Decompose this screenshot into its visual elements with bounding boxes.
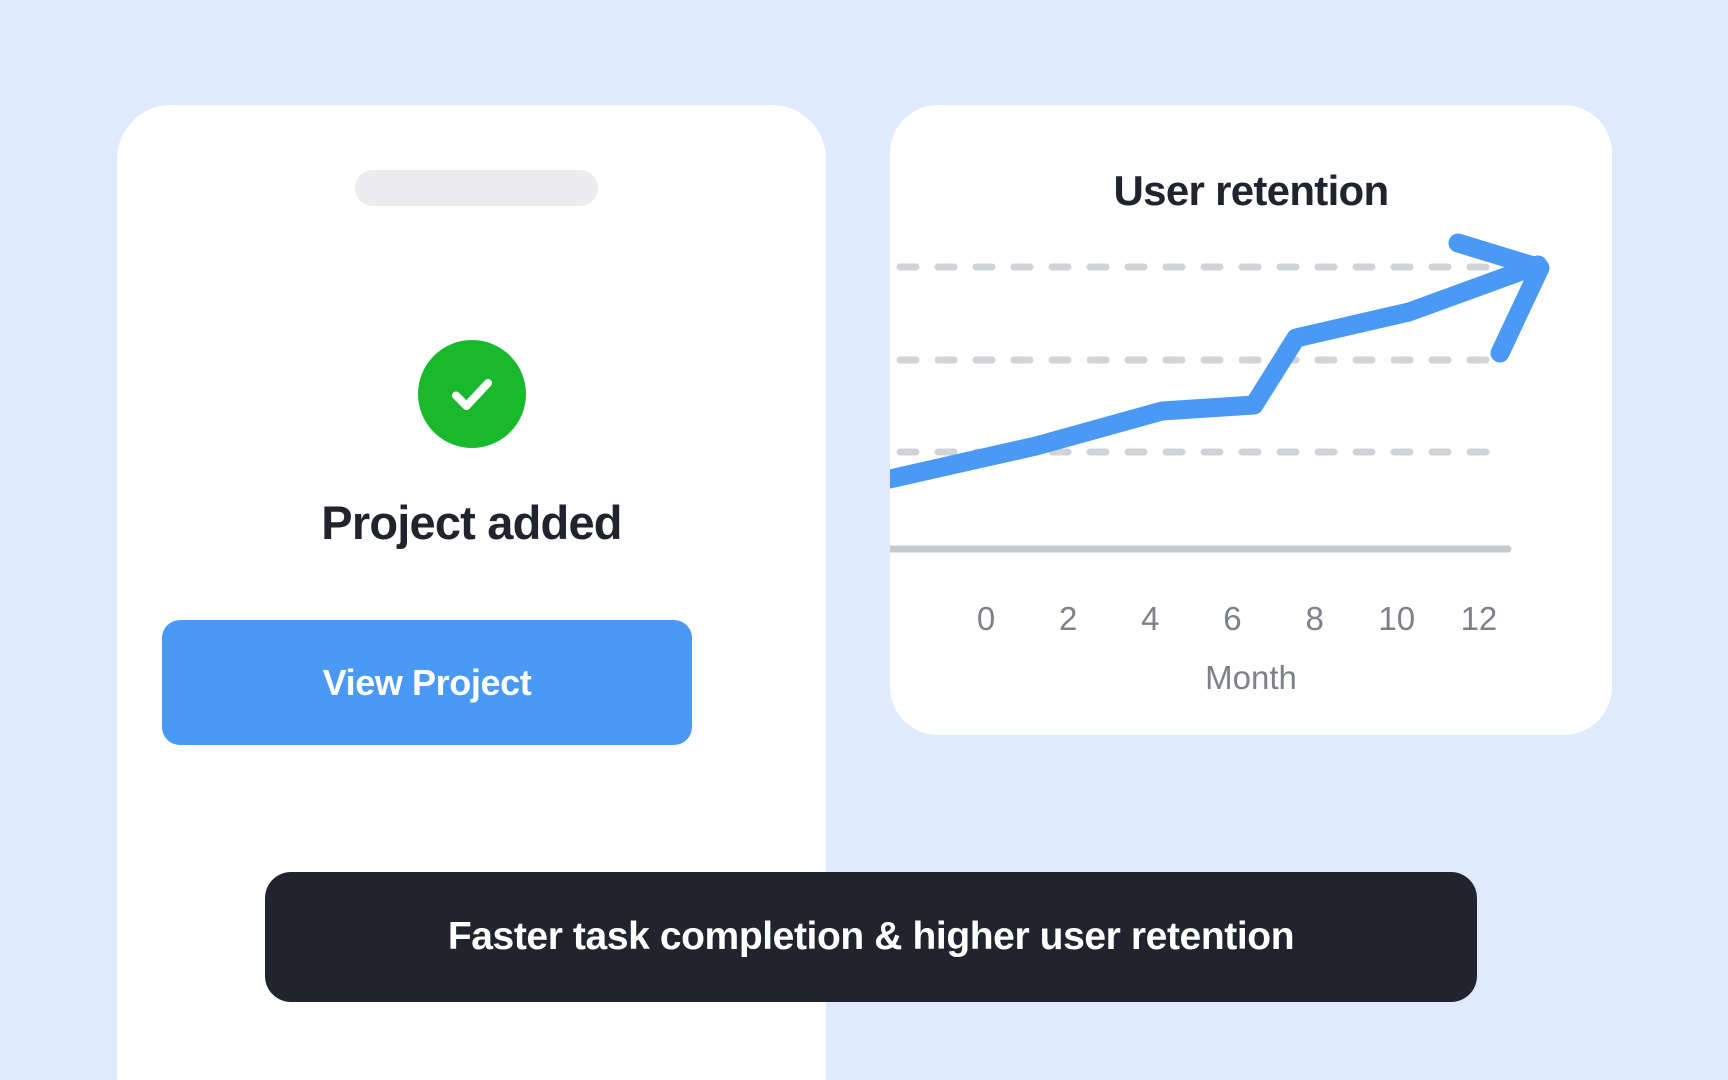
x-tick-12: 12 <box>1453 600 1505 638</box>
chart-x-axis-label: Month <box>890 659 1612 697</box>
user-retention-chart-card: User retention 0 2 4 6 8 10 12 <box>890 105 1612 735</box>
benefit-toast-banner: Faster task completion & higher user ret… <box>265 872 1477 1002</box>
phone-notch-pill <box>355 170 598 206</box>
x-tick-8: 8 <box>1289 600 1341 638</box>
x-tick-6: 6 <box>1206 600 1258 638</box>
page-title: Project added <box>117 495 826 550</box>
toast-message: Faster task completion & higher user ret… <box>448 915 1294 959</box>
x-tick-2: 2 <box>1042 600 1094 638</box>
x-tick-4: 4 <box>1124 600 1176 638</box>
page-root: Project added View Project User retentio… <box>0 0 1728 1080</box>
view-project-button[interactable]: View Project <box>162 620 692 745</box>
x-tick-0: 0 <box>960 600 1012 638</box>
chart-x-tick-labels: 0 2 4 6 8 10 12 <box>960 600 1505 638</box>
x-tick-10: 10 <box>1371 600 1423 638</box>
chart-gridlines <box>890 267 1508 452</box>
retention-line-chart <box>890 105 1612 735</box>
check-circle-icon <box>418 340 526 448</box>
